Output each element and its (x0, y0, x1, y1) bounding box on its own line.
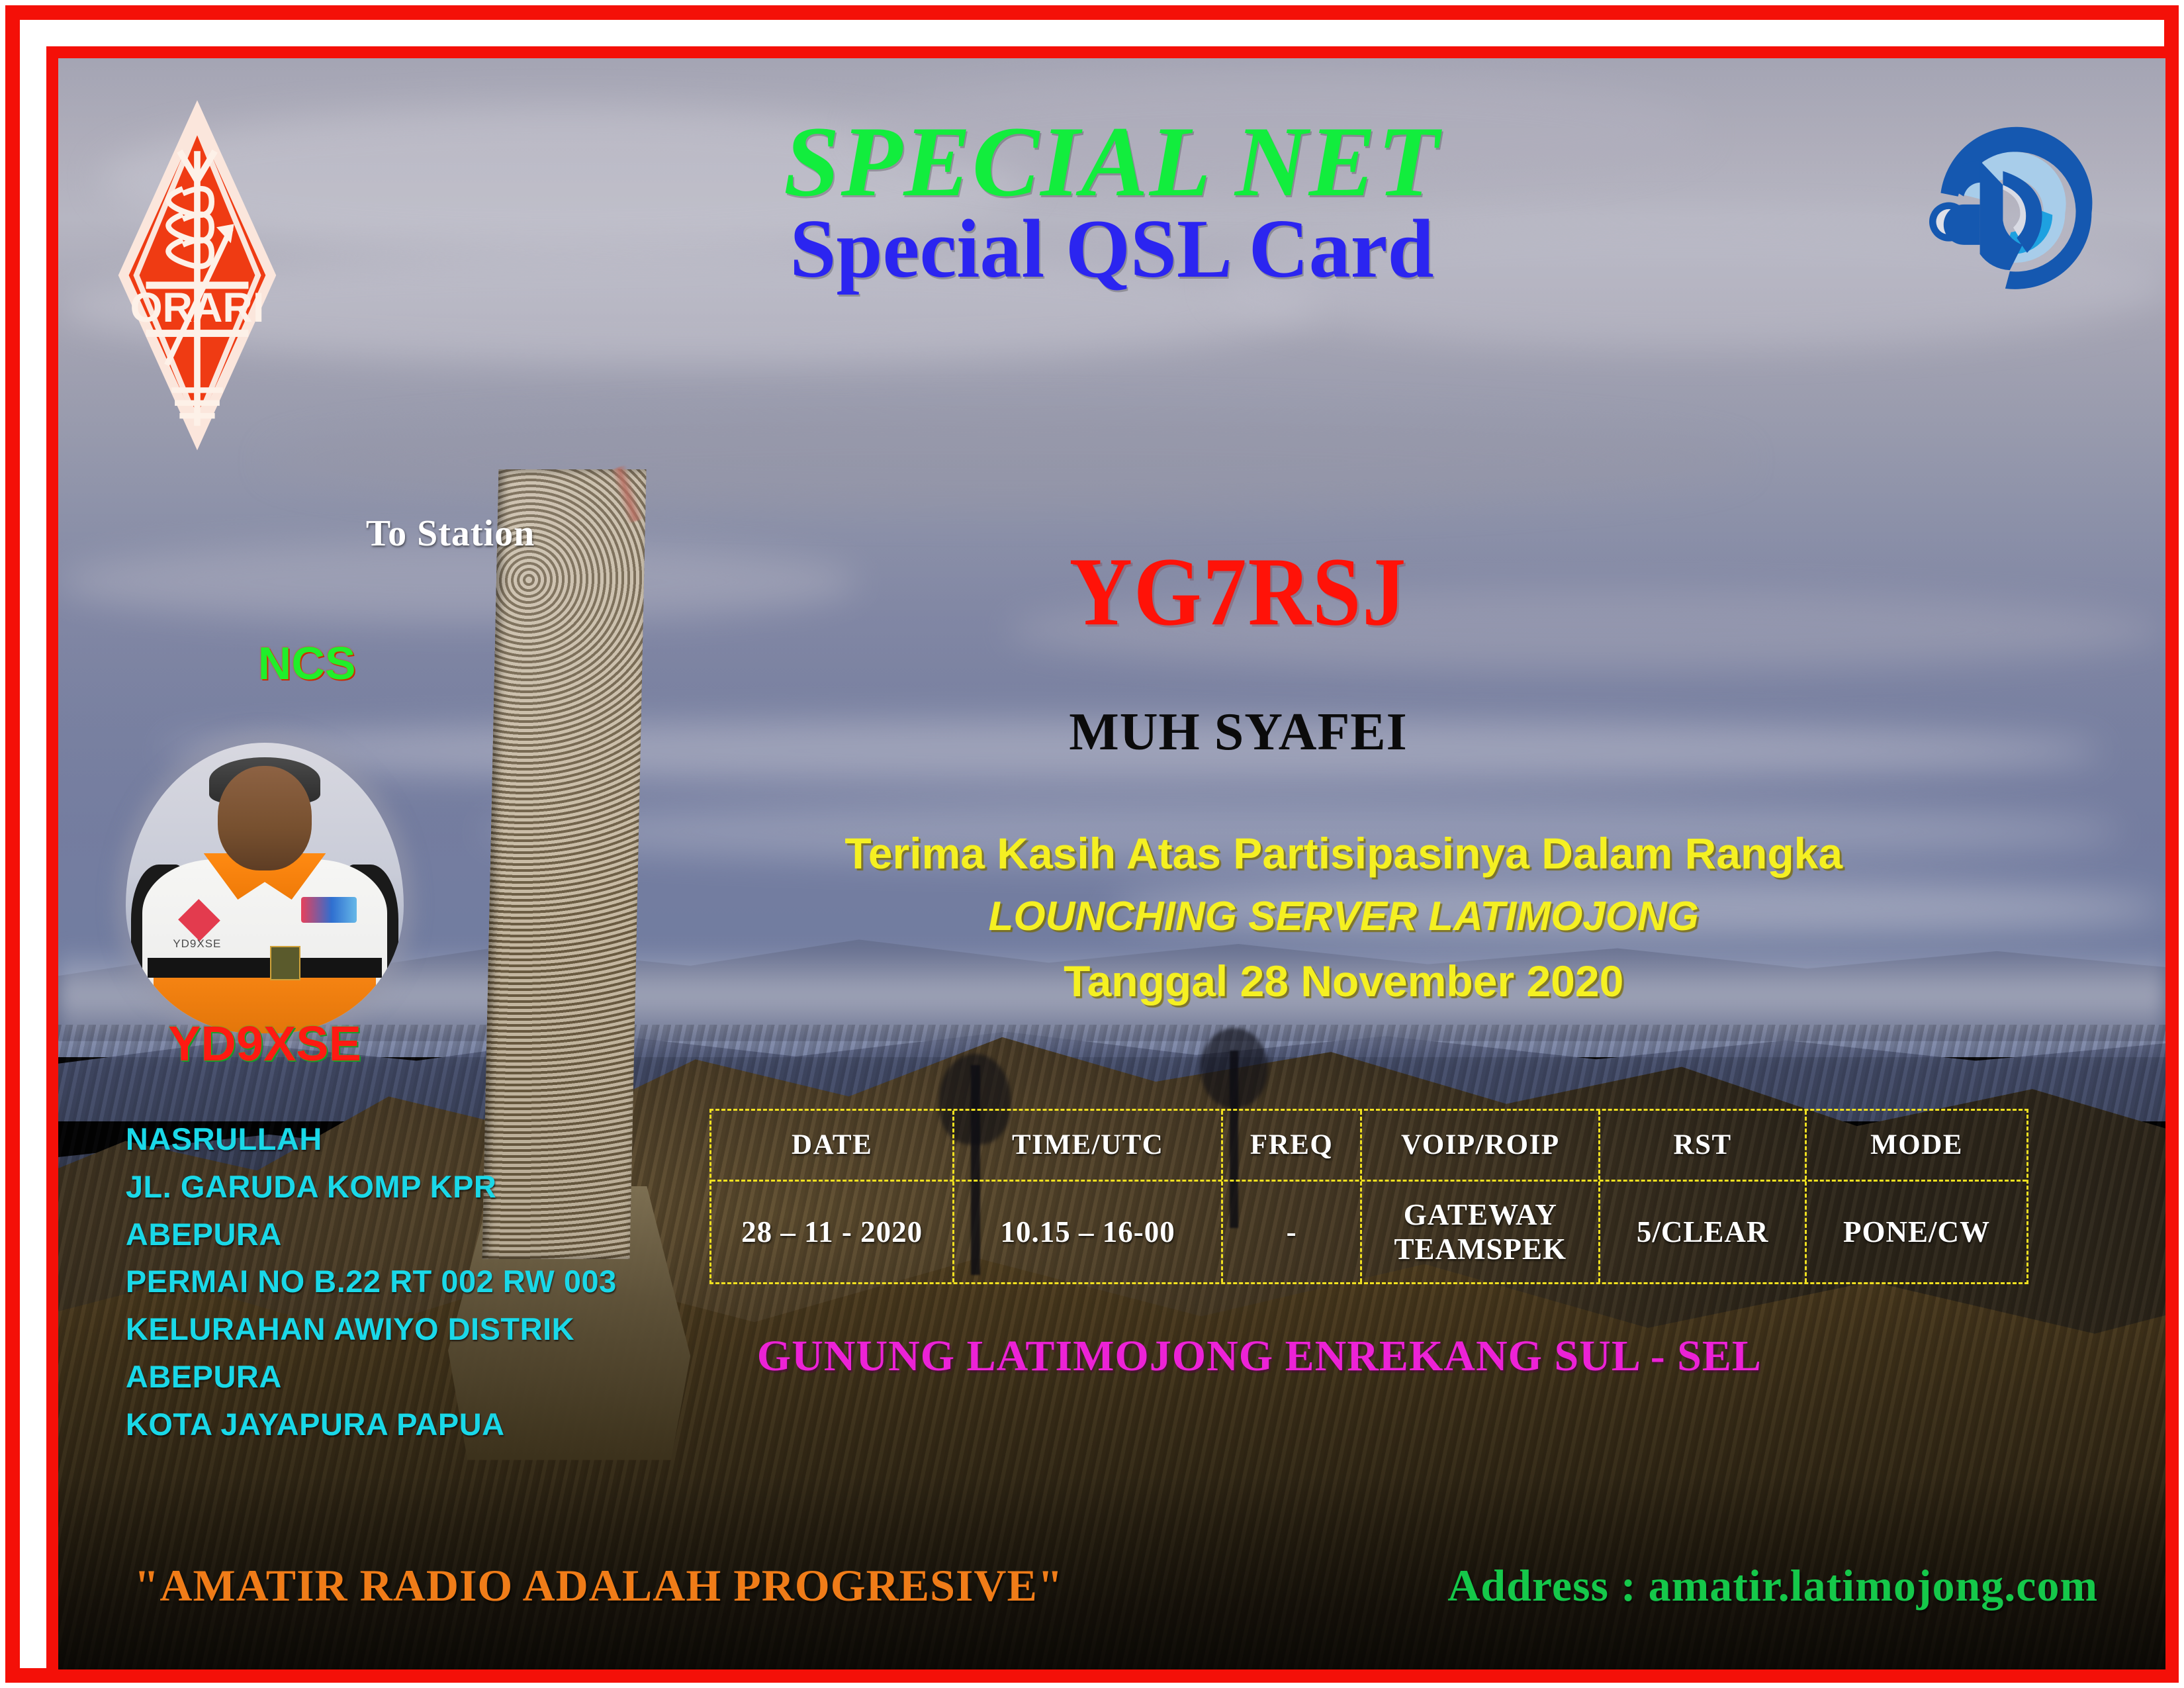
address-block: NASRULLAH JL. GARUDA KOMP KPR ABEPURA PE… (126, 1115, 758, 1448)
table-cell-time-utc: 10.15 – 16-00 (954, 1182, 1222, 1283)
table-header-freq: FREQ (1223, 1111, 1363, 1180)
photo-face (218, 766, 312, 870)
qsl-card: ORARI (0, 0, 2184, 1688)
title-special-net: SPECIAL NET (58, 111, 2165, 212)
address-line: NASRULLAH (126, 1115, 758, 1163)
table-header-date: DATE (711, 1111, 955, 1180)
location-text: GUNUNG LATIMOJONG ENREKANG SUL - SEL (649, 1331, 1871, 1382)
table-cell-freq: - (1223, 1182, 1363, 1283)
table-row: 28 – 11 - 2020 10.15 – 16-00 - GATEWAYTE… (711, 1180, 2026, 1283)
ncs-label: NCS (191, 637, 423, 690)
ncs-operator-photo: YD9XSE (126, 743, 404, 1033)
thanks-line-1: Terima Kasih Atas Partisipasinya Dalam R… (754, 831, 1934, 875)
to-station-label: To Station (366, 512, 535, 555)
inner-red-frame: ORARI (46, 46, 2177, 1681)
card-content: ORARI (58, 58, 2165, 1669)
table-cell-voip-roip: GATEWAYTEAMSPEK (1362, 1182, 1600, 1283)
photo-id-card (270, 946, 300, 980)
photo-shirt-callsign: YD9XSE (173, 937, 221, 951)
station-callsign: YG7RSJ (943, 543, 1533, 641)
address-line: ABEPURA (126, 1211, 758, 1258)
table-header-rst: RST (1600, 1111, 1807, 1180)
address-line: PERMAI NO B.22 RT 002 RW 003 (126, 1258, 758, 1305)
qso-table: DATE TIME/UTC FREQ VOIP/ROIP RST MODE 28… (709, 1109, 2028, 1284)
address-line: JL. GARUDA KOMP KPR (126, 1163, 758, 1211)
table-header-time-utc: TIME/UTC (954, 1111, 1222, 1180)
photo-waist-band (148, 958, 381, 978)
table-header-voip-roip: VOIP/ROIP (1362, 1111, 1600, 1180)
footer-web-address: Address : amatir.latimojong.com (1447, 1560, 2098, 1612)
outer-red-frame: ORARI (5, 5, 2179, 1683)
table-cell-rst: 5/CLEAR (1600, 1182, 1807, 1283)
table-header-row: DATE TIME/UTC FREQ VOIP/ROIP RST MODE (711, 1111, 2026, 1180)
photo-org-patch (301, 897, 357, 923)
thanks-line-2: LOUNCHING SERVER LATIMOJONG (754, 896, 1934, 937)
operator-name: MUH SYAFEI (943, 706, 1533, 759)
address-line: KOTA JAYAPURA PAPUA (126, 1401, 758, 1448)
title-special-qsl-card: Special QSL Card (58, 208, 2165, 291)
table-cell-date: 28 – 11 - 2020 (711, 1182, 955, 1283)
table-header-mode: MODE (1807, 1111, 2026, 1180)
table-cell-mode: PONE/CW (1807, 1182, 2026, 1283)
thanks-line-3: Tanggal 28 November 2020 (754, 959, 1934, 1003)
footer-slogan: "AMATIR RADIO ADALAH PROGRESIVE" (134, 1560, 1064, 1612)
ncs-callsign: YD9XSE (126, 1015, 404, 1072)
